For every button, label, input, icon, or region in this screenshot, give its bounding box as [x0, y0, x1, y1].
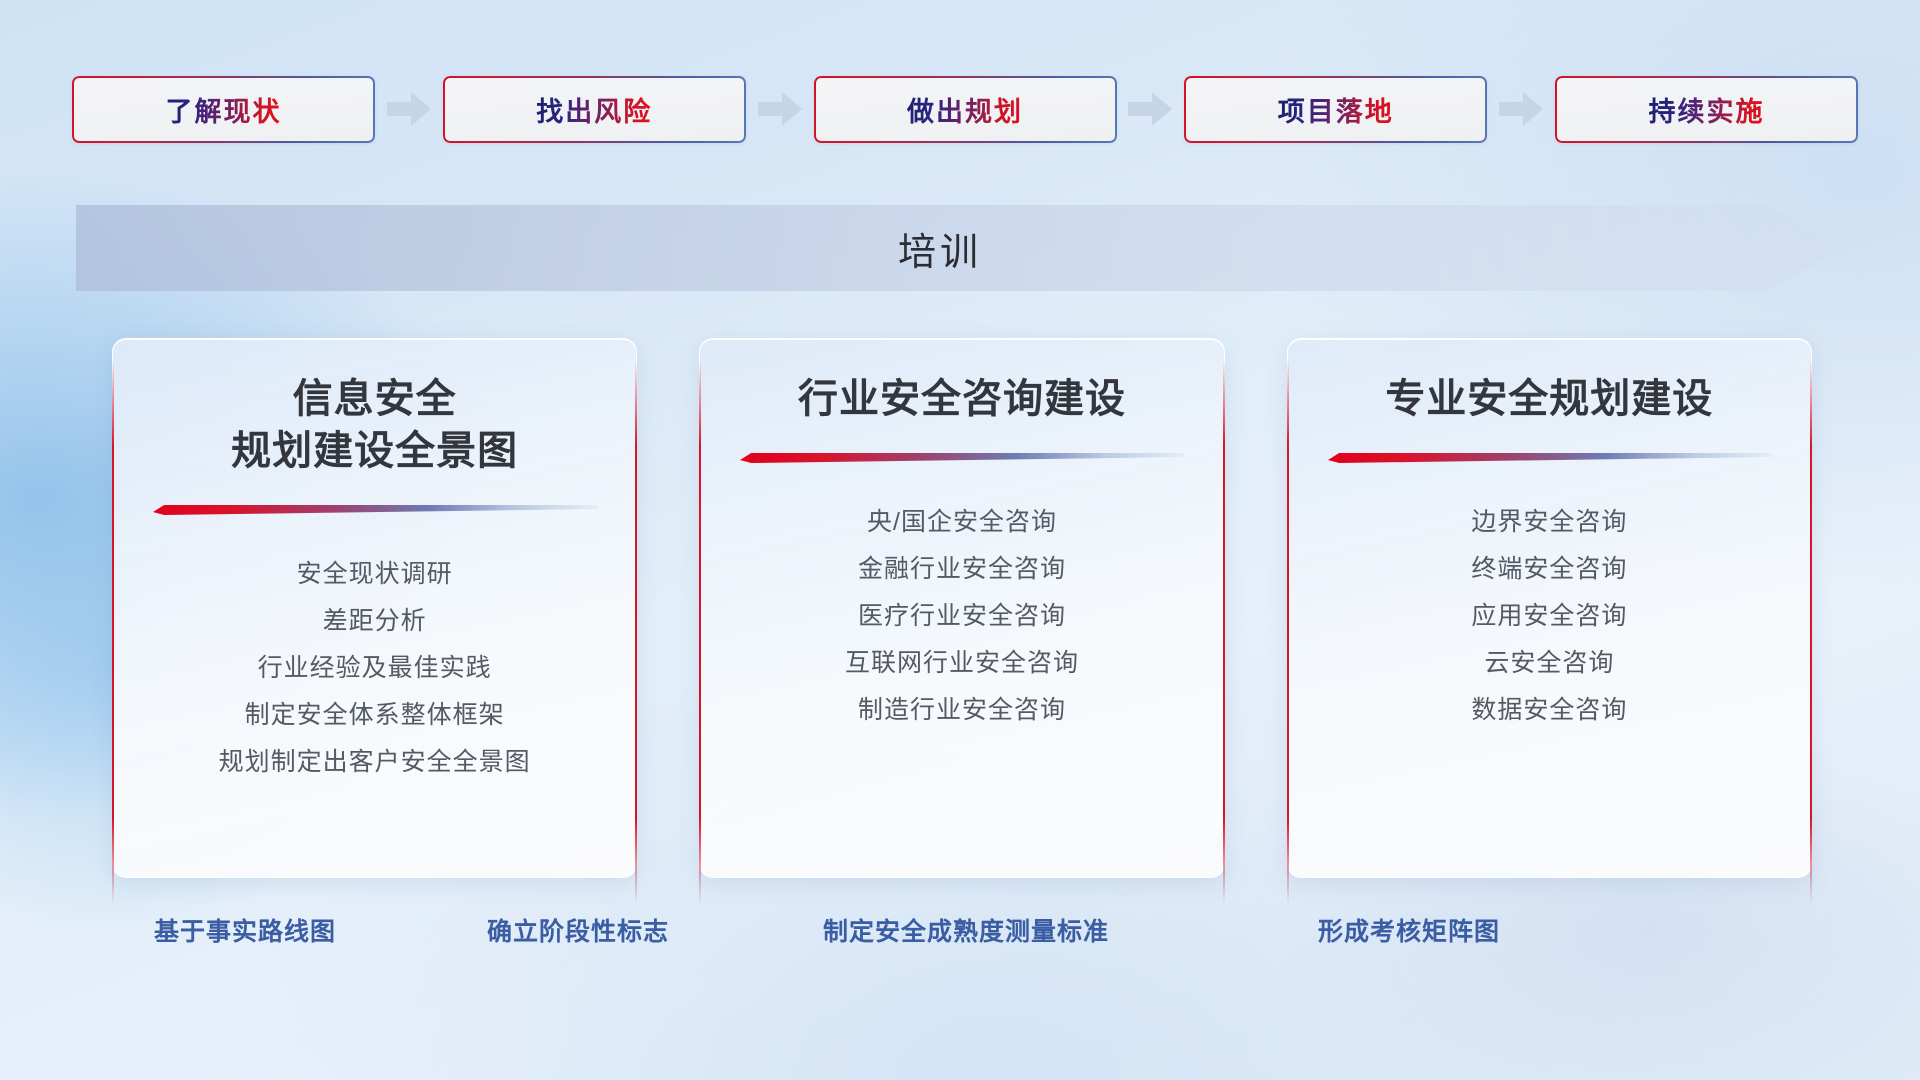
slide-canvas: 了解现状 找出风险 做出规划 项目落地 — [0, 0, 1920, 1080]
list-item: 制造行业安全咨询 — [730, 687, 1193, 734]
list-item: 差距分析 — [143, 598, 606, 645]
card-3-list: 边界安全咨询 终端安全咨询 应用安全咨询 云安全咨询 数据安全咨询 — [1318, 499, 1781, 734]
list-item: 数据安全咨询 — [1318, 687, 1781, 734]
list-item: 安全现状调研 — [143, 551, 606, 598]
card-1-title: 信息安全 规划建设全景图 — [143, 373, 606, 477]
step-label-2: 找出风险 — [536, 90, 652, 129]
card-2[interactable]: 行业安全咨询建设 — [699, 338, 1224, 878]
list-item: 云安全咨询 — [1318, 640, 1781, 687]
step-label-5: 持续实施 — [1649, 90, 1765, 129]
training-banner: 培训 — [76, 205, 1844, 291]
card-1-list: 安全现状调研 差距分析 行业经验及最佳实践 制定安全体系整体框架 规划制定出客户… — [143, 551, 606, 786]
bottom-label-2: 确立阶段性标志 — [487, 912, 669, 948]
card-1-divider-icon — [153, 503, 598, 517]
card-1-edge-right — [635, 359, 637, 905]
card-1[interactable]: 信息安全 规划建设全景图 — [112, 338, 637, 878]
step-label-3: 做出规划 — [907, 90, 1023, 129]
list-item: 终端安全咨询 — [1318, 546, 1781, 593]
list-item: 规划制定出客户安全全景图 — [143, 739, 606, 786]
step-box-4[interactable]: 项目落地 — [1184, 76, 1487, 143]
card-2-edge-left — [699, 359, 701, 905]
card-3[interactable]: 专业安全规划建设 — [1287, 338, 1812, 878]
card-3-edge-right — [1810, 359, 1812, 905]
card-2-edge-right — [1223, 359, 1225, 905]
step-box-2[interactable]: 找出风险 — [443, 76, 746, 143]
card-3-title: 专业安全规划建设 — [1318, 373, 1781, 425]
card-2-divider-icon — [740, 451, 1185, 465]
list-item: 互联网行业安全咨询 — [730, 640, 1193, 687]
card-2-list: 央/国企安全咨询 金融行业安全咨询 医疗行业安全咨询 互联网行业安全咨询 制造行… — [730, 499, 1193, 734]
arrow-right-icon-2 — [746, 90, 814, 128]
card-2-title: 行业安全咨询建设 — [730, 373, 1193, 425]
card-1-edge-left — [112, 359, 114, 905]
list-item: 制定安全体系整体框架 — [143, 692, 606, 739]
bottom-label-4: 形成考核矩阵图 — [1318, 912, 1500, 948]
step-box-5[interactable]: 持续实施 — [1555, 76, 1858, 143]
card-3-divider-icon — [1328, 451, 1773, 465]
list-item: 边界安全咨询 — [1318, 499, 1781, 546]
arrow-right-icon-3 — [1117, 90, 1185, 128]
bottom-label-row: 基于事实路线图 确立阶段性标志 制定安全成熟度测量标准 形成考核矩阵图 — [0, 912, 1920, 958]
step-label-1: 了解现状 — [166, 90, 282, 129]
arrow-right-icon-1 — [375, 90, 443, 128]
step-label-4: 项目落地 — [1278, 90, 1394, 129]
bottom-label-1: 基于事实路线图 — [154, 912, 336, 948]
bottom-label-3: 制定安全成熟度测量标准 — [823, 912, 1109, 948]
list-item: 央/国企安全咨询 — [730, 499, 1193, 546]
card-3-edge-left — [1287, 359, 1289, 905]
step-box-1[interactable]: 了解现状 — [72, 76, 375, 143]
banner-label: 培训 — [76, 205, 1844, 291]
list-item: 金融行业安全咨询 — [730, 546, 1193, 593]
list-item: 医疗行业安全咨询 — [730, 593, 1193, 640]
process-step-row: 了解现状 找出风险 做出规划 项目落地 — [72, 74, 1858, 144]
list-item: 应用安全咨询 — [1318, 593, 1781, 640]
arrow-right-icon-4 — [1487, 90, 1555, 128]
list-item: 行业经验及最佳实践 — [143, 645, 606, 692]
card-group: 信息安全 规划建设全景图 — [112, 338, 1812, 878]
step-box-3[interactable]: 做出规划 — [814, 76, 1117, 143]
